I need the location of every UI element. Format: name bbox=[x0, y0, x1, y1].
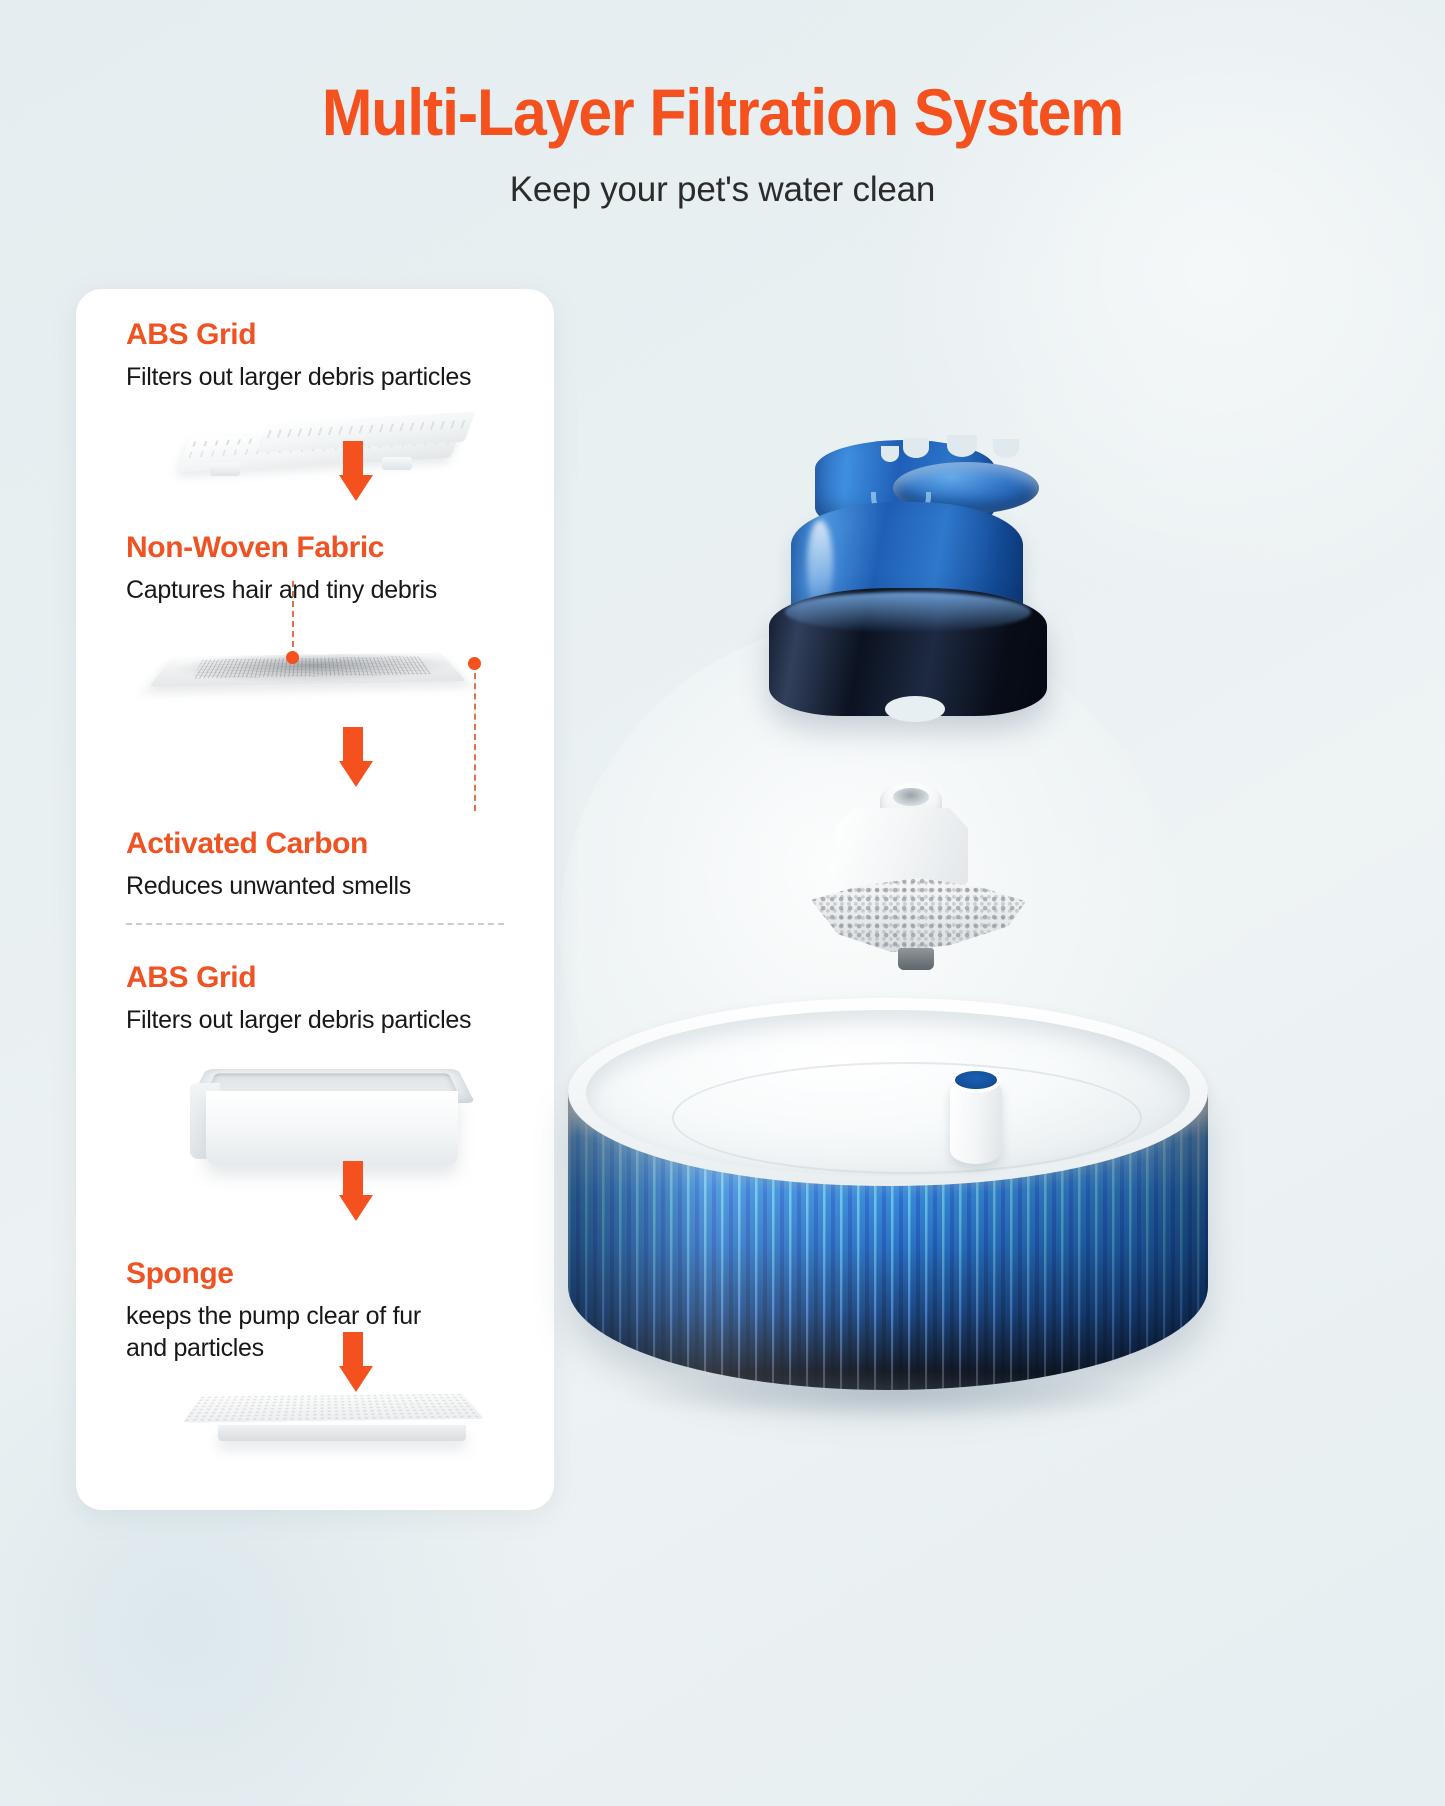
ceramic-water-bowl bbox=[568, 998, 1208, 1408]
arrow-shaft bbox=[343, 1161, 363, 1195]
page-title: Multi-Layer Filtration System bbox=[58, 78, 1387, 148]
non-woven-fabric-image bbox=[164, 619, 484, 729]
dark-tower-base bbox=[769, 588, 1047, 716]
arrow-shaft bbox=[343, 727, 363, 761]
step-description: Filters out larger debris particles bbox=[126, 1004, 471, 1036]
step-item-abs-grid-top: ABS Grid Filters out larger debris parti… bbox=[126, 318, 471, 393]
down-arrow-icon bbox=[339, 727, 367, 787]
abs-grid-plate-image bbox=[186, 417, 486, 487]
step-title: ABS Grid bbox=[126, 961, 471, 995]
header: Multi-Layer Filtration System Keep your … bbox=[0, 78, 1445, 210]
page-subtitle: Keep your pet's water clean bbox=[0, 170, 1445, 210]
water-pump-assembly bbox=[802, 782, 1032, 1012]
filtration-steps-card: ABS Grid Filters out larger debris parti… bbox=[76, 289, 554, 1510]
bowl-drop-shadow bbox=[628, 1370, 1158, 1420]
step-title: Sponge bbox=[126, 1257, 421, 1291]
sponge-top-face bbox=[183, 1394, 484, 1423]
blue-filter-tower bbox=[755, 440, 1055, 770]
product-exploded-view bbox=[540, 400, 1420, 1520]
down-arrow-icon bbox=[339, 441, 367, 501]
sponge-pad-image bbox=[194, 1379, 494, 1473]
abs-grid-tray-image bbox=[188, 1053, 488, 1193]
callout-dot-right bbox=[468, 657, 481, 670]
crown-notch bbox=[881, 446, 899, 462]
step-title: ABS Grid bbox=[126, 318, 471, 352]
callout-dot-left bbox=[286, 651, 299, 664]
arrow-head bbox=[339, 761, 373, 787]
step-description: Reduces unwanted smells bbox=[126, 870, 411, 902]
arrow-head bbox=[339, 1195, 373, 1221]
section-divider bbox=[126, 923, 504, 925]
water-spout-tube bbox=[950, 1078, 1002, 1164]
bowl-interior-ring bbox=[672, 1062, 1142, 1174]
step-title: Non-Woven Fabric bbox=[126, 531, 437, 565]
base-rim-highlight bbox=[785, 592, 1031, 632]
crown-notch bbox=[993, 439, 1019, 458]
step-description: Filters out larger debris particles bbox=[126, 361, 471, 393]
plate-tab-left bbox=[210, 463, 240, 476]
step-item-activated-carbon: Activated Carbon Reduces unwanted smells bbox=[126, 827, 411, 902]
crown-notch bbox=[947, 435, 977, 457]
arrow-head bbox=[339, 475, 373, 501]
pump-sponge-filter bbox=[802, 878, 1026, 956]
step-item-sponge: Sponge keeps the pump clear of fur and p… bbox=[126, 1257, 421, 1364]
crown-notch bbox=[903, 438, 929, 458]
callout-dashed-line-left bbox=[292, 581, 294, 657]
sponge-front-face bbox=[218, 1425, 466, 1441]
fabric-sheet bbox=[149, 653, 466, 687]
bowl-interior bbox=[586, 1010, 1190, 1176]
callout-dashed-line-right bbox=[474, 663, 476, 811]
step-item-abs-grid-bottom: ABS Grid Filters out larger debris parti… bbox=[126, 961, 471, 1036]
step-description: Captures hair and tiny debris bbox=[126, 574, 437, 606]
plate-tab-right bbox=[382, 457, 412, 470]
tray-front-face bbox=[206, 1091, 458, 1165]
down-arrow-icon bbox=[339, 1161, 367, 1221]
step-item-non-woven-fabric: Non-Woven Fabric Captures hair and tiny … bbox=[126, 531, 437, 606]
step-title: Activated Carbon bbox=[126, 827, 411, 861]
base-cable-notch bbox=[885, 696, 945, 722]
pump-intake-stub bbox=[898, 948, 934, 970]
step-description: keeps the pump clear of fur and particle… bbox=[126, 1300, 421, 1364]
filtration-steps-list: ABS Grid Filters out larger debris parti… bbox=[76, 289, 554, 1510]
arrow-shaft bbox=[343, 441, 363, 475]
arrow-shaft bbox=[343, 1332, 363, 1366]
